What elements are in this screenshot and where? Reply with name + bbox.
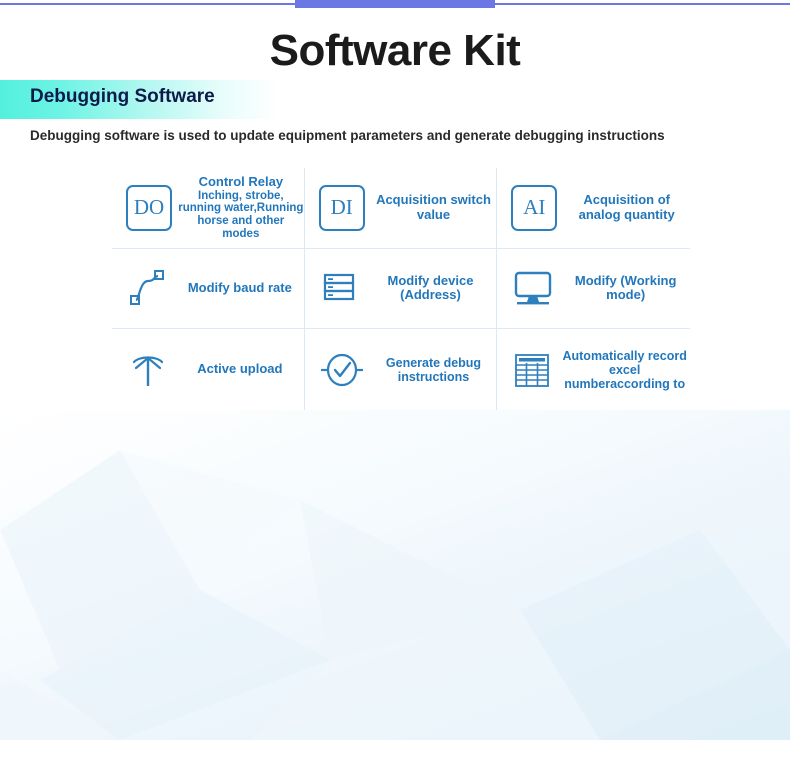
di-badge-icon: DI [319, 185, 365, 231]
feature-cell-active-upload[interactable]: Active upload [112, 329, 305, 410]
feature-title-modify-device: Modify device (Address) [365, 274, 497, 303]
feature-cell-modify-working-mode[interactable]: Modify (Working mode) [497, 249, 690, 330]
monitor-icon [511, 268, 555, 308]
server-stack-icon [319, 268, 359, 308]
feature-title-acquisition-analog: Acquisition of analog quantity [563, 193, 690, 222]
feature-title-control-relay: Control Relay [199, 174, 284, 189]
feature-title-modify-working-mode: Modify (Working mode) [561, 274, 690, 303]
section-banner-label: Debugging Software [30, 86, 215, 108]
feature-title-active-upload: Active upload [176, 362, 304, 377]
feature-title-acquisition-switch: Acquisition switch value [371, 193, 497, 222]
feature-cell-auto-record-excel[interactable]: Automatically record excel numberaccordi… [497, 329, 690, 410]
section-subtitle: Debugging software is used to update equ… [30, 128, 760, 143]
feature-title-auto-record-excel: Automatically record excel numberaccordi… [559, 349, 690, 391]
do-badge-icon: DO [126, 185, 172, 231]
feature-cell-acquisition-switch[interactable]: DI Acquisition switch value [305, 168, 498, 249]
feature-cell-acquisition-analog[interactable]: AI Acquisition of analog quantity [497, 168, 690, 249]
upload-arrow-icon [126, 348, 170, 392]
top-accent-bar [295, 0, 495, 8]
di-badge-text: DI [319, 185, 365, 231]
page-title: Software Kit [0, 26, 790, 76]
feature-title-modify-baud-rate: Modify baud rate [176, 281, 304, 296]
feature-subtitle-control-relay: Inching, strobe, running water,Running h… [178, 190, 304, 241]
ai-badge-icon: AI [511, 185, 557, 231]
feature-grid: DO Control Relay Inching, strobe, runnin… [112, 168, 690, 410]
ai-badge-text: AI [511, 185, 557, 231]
spreadsheet-icon [511, 349, 553, 391]
check-circle-icon [319, 349, 365, 391]
feature-cell-modify-device[interactable]: Modify device (Address) [305, 249, 498, 330]
feature-label-control-relay: Control Relay Inching, strobe, running w… [178, 175, 304, 240]
do-badge-text: DO [126, 185, 172, 231]
feature-cell-modify-baud-rate[interactable]: Modify baud rate [112, 249, 305, 330]
polygon-background [0, 410, 790, 740]
feature-cell-control-relay[interactable]: DO Control Relay Inching, strobe, runnin… [112, 168, 305, 249]
hero-image-area: 通道数值AI1#30.000 mAAI2#30.000 mAAI3#30.000… [0, 410, 790, 740]
feature-title-generate-debug-instructions: Generate debug instructions [371, 356, 497, 384]
bezier-curve-icon [126, 267, 170, 309]
feature-cell-generate-debug-instructions[interactable]: Generate debug instructions [305, 329, 498, 410]
